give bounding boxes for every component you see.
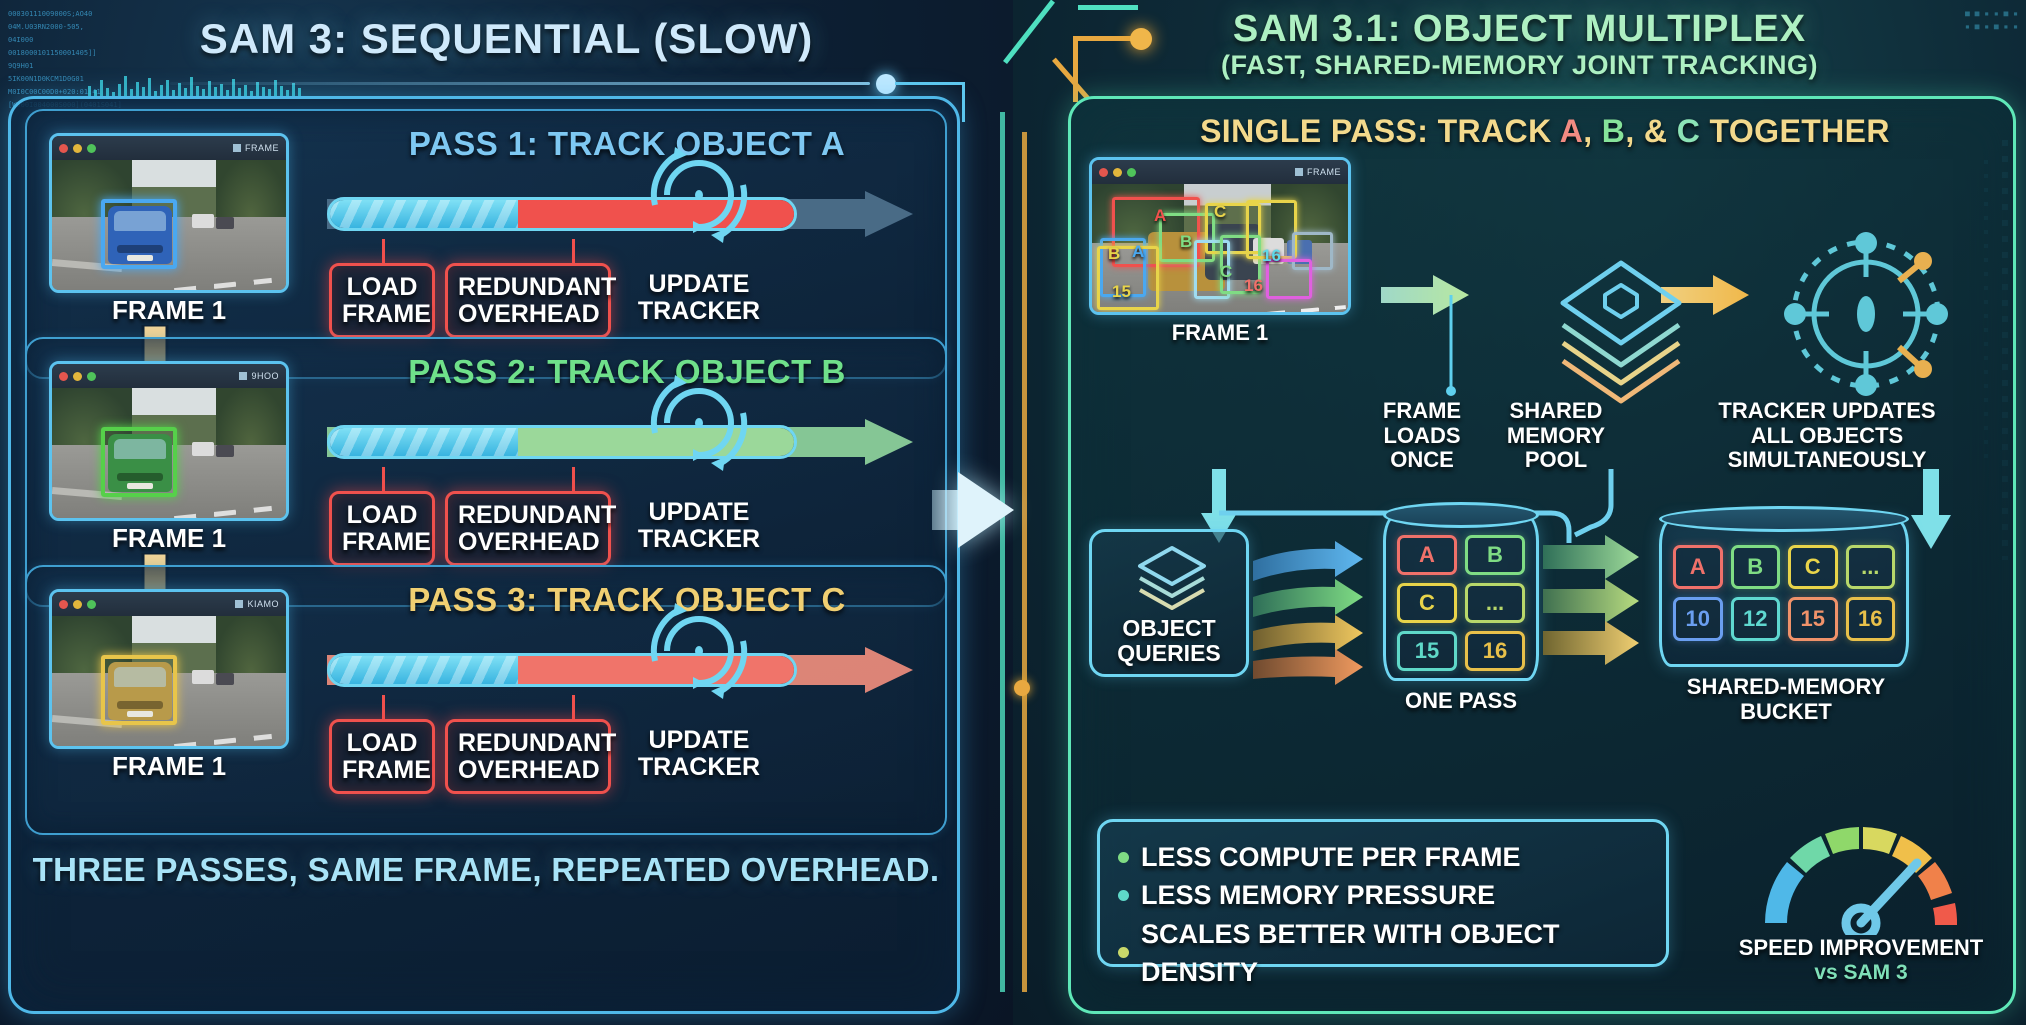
single-pass-title-sep1: , <box>1583 113 1602 149</box>
minimize-dot-icon[interactable] <box>73 600 82 609</box>
thumbnail-titlebar: 9HOO <box>52 364 286 388</box>
timeline-bar <box>327 419 915 465</box>
one-pass-cylinder[interactable]: ABC...1516 <box>1383 515 1539 681</box>
overhead-tick <box>572 695 575 721</box>
object-queries-label: OBJECT QUERIES <box>1092 616 1246 667</box>
one-pass-chip-grid: ABC...1516 <box>1395 533 1527 673</box>
update-tracker-label: UPDATE TRACKER <box>619 499 779 552</box>
thumbnail-window-text: 9HOO <box>251 371 279 381</box>
memory-chip: C <box>1788 545 1838 589</box>
overhead-line1: REDUNDANT <box>458 502 598 529</box>
road-scene <box>52 616 286 749</box>
memory-chip: 15 <box>1788 597 1838 641</box>
tracker-updates-line1: TRACKER UPDATES <box>1649 399 2005 424</box>
sequential-summary: THREE PASSES, SAME FRAME, REPEATED OVERH… <box>25 851 947 889</box>
bucket-label-line1: SHARED-MEMORY <box>1641 675 1931 700</box>
gauge-caption: SPEED IMPROVEMENT <box>1721 935 2001 961</box>
single-pass-title-a: A <box>1560 113 1584 149</box>
multiplex-panel: SINGLE PASS: TRACK A, B, & C TOGETHER FR… <box>1068 96 2016 1014</box>
benefit-item: LESS MEMORY PRESSURE <box>1118 876 1648 914</box>
pass-title: PASS 1: TRACK OBJECT A <box>327 125 927 163</box>
infographic-root: 00030111009000S;AO40 04M.U03RN2000-505, … <box>0 0 2026 1025</box>
header-node-line-vertical <box>962 82 965 122</box>
frame-loads-line2: LOADS <box>1367 424 1477 449</box>
single-pass-title-sep2: , & <box>1625 113 1676 149</box>
update-tracker-line1: UPDATE <box>619 271 779 298</box>
bounding-box <box>101 427 177 497</box>
single-pass-title-c: C <box>1677 113 1701 149</box>
progress-load-segment <box>330 200 518 228</box>
shared-pool-line2: MEMORY <box>1491 424 1621 449</box>
maximize-dot-icon[interactable] <box>87 372 96 381</box>
queries-stack-icon <box>1130 544 1214 616</box>
load-tick <box>382 467 385 493</box>
object-queries-line2: QUERIES <box>1092 641 1246 666</box>
memory-chip: 16 <box>1465 631 1525 671</box>
load-frame-line2: FRAME <box>342 301 422 328</box>
maximize-dot-icon[interactable] <box>87 600 96 609</box>
update-tracker-line2: TRACKER <box>619 298 779 325</box>
amber-circuit-long <box>1022 132 1027 992</box>
one-pass-label: ONE PASS <box>1371 689 1551 714</box>
window-grid-icon <box>233 144 241 152</box>
right-header-subtitle: (FAST, SHARED-MEMORY JOINT TRACKING) <box>1013 50 2026 81</box>
left-header-title: SAM 3: SEQUENTIAL (SLOW) <box>0 18 1013 60</box>
progress-load-segment <box>330 656 518 684</box>
object-tag: B <box>1108 244 1120 264</box>
object-tag: C <box>1220 262 1232 282</box>
tracker-updates-line2: ALL OBJECTS <box>1649 424 2005 449</box>
teal-circuit-horizontal <box>1078 5 1138 10</box>
shared-memory-stack-icon <box>1543 207 1703 407</box>
benefit-item: LESS COMPUTE PER FRAME <box>1118 838 1648 876</box>
overhead-tick <box>572 467 575 493</box>
bucket-chip-grid: ABC...10121516 <box>1673 545 1895 641</box>
close-dot-icon[interactable] <box>59 144 68 153</box>
distant-vehicle-1 <box>192 442 214 456</box>
gauge-subcaption: vs SAM 3 <box>1721 961 2001 985</box>
overhead-line2: OVERHEAD <box>458 301 598 328</box>
object-queries-box[interactable]: OBJECT QUERIES <box>1089 529 1249 677</box>
header-node-line <box>895 82 965 85</box>
update-tracker-label: UPDATE TRACKER <box>619 727 779 780</box>
thumbnail-window-label: FRAME <box>1295 167 1341 177</box>
bounding-box <box>101 655 177 725</box>
thumbnail-window-text: KIAMO <box>247 599 279 609</box>
frame-loads-once-label: FRAME LOADS ONCE <box>1367 399 1477 473</box>
pass-frame-thumbnail[interactable]: KIAMO <box>49 589 289 749</box>
overhead-line1: REDUNDANT <box>458 274 598 301</box>
redundant-overhead-tag: REDUNDANT OVERHEAD <box>445 719 611 794</box>
load-tick <box>382 239 385 265</box>
memory-chip: 10 <box>1673 597 1723 641</box>
query-flow-arrows <box>1251 539 1391 689</box>
pass-frame-thumbnail[interactable]: FRAME <box>49 133 289 293</box>
memory-chip: ... <box>1846 545 1896 589</box>
object-tag: B <box>1180 232 1192 252</box>
minimize-dot-icon[interactable] <box>73 372 82 381</box>
memory-chip: C <box>1397 583 1457 623</box>
refresh-tracker-icon <box>643 369 755 477</box>
benefit-text: SCALES BETTER WITH OBJECT DENSITY <box>1141 915 1648 992</box>
update-tracker-line2: TRACKER <box>619 754 779 781</box>
load-frame-line1: LOAD <box>342 274 422 301</box>
memory-chip: 16 <box>1846 597 1896 641</box>
pass-title: PASS 2: TRACK OBJECT B <box>327 353 927 391</box>
memory-chip: A <box>1397 535 1457 575</box>
thumbnail-titlebar: FRAME <box>52 136 286 160</box>
maximize-dot-icon[interactable] <box>87 144 96 153</box>
single-pass-title-b: B <box>1602 113 1626 149</box>
distant-vehicle-1 <box>192 214 214 228</box>
memory-chip: A <box>1673 545 1723 589</box>
bucket-top <box>1659 506 1909 532</box>
thumbnail-window-label: 9HOO <box>239 371 279 381</box>
one-pass-cylinder-top <box>1383 502 1539 528</box>
right-header-title: SAM 3.1: OBJECT MULTIPLEX <box>1013 10 2026 48</box>
pass-title: PASS 3: TRACK OBJECT C <box>327 581 927 619</box>
amber-circuit-horizontal <box>1073 36 1133 41</box>
shared-pool-line1: SHARED <box>1491 399 1621 424</box>
window-grid-icon <box>239 372 247 380</box>
thumbnail-window-label: KIAMO <box>235 599 279 609</box>
single-pass-title-pre: SINGLE PASS: TRACK <box>1200 113 1560 149</box>
load-frame-tag: LOAD FRAME <box>329 263 435 338</box>
close-dot-icon[interactable] <box>1099 168 1108 177</box>
thumbnail-window-label: FRAME <box>233 143 279 153</box>
bullet-dot-icon <box>1118 890 1129 901</box>
multi-object-scene: ACBBAC151616 <box>1092 184 1348 315</box>
amber-circuit-dot-lower <box>1014 680 1030 696</box>
thumbnail-window-text: FRAME <box>1307 167 1341 177</box>
distant-vehicle-2 <box>216 217 234 229</box>
object-tag: C <box>1214 202 1226 222</box>
bucket-label-line2: BUCKET <box>1641 700 1931 725</box>
object-tag: 15 <box>1112 282 1131 302</box>
speed-gauge: SPEED IMPROVEMENT vs SAM 3 <box>1721 811 2001 985</box>
redundant-overhead-tag: REDUNDANT OVERHEAD <box>445 263 611 338</box>
thumbnail-window-text: FRAME <box>245 143 279 153</box>
amber-circuit-vertical <box>1073 36 1078 102</box>
window-grid-icon <box>1295 168 1303 176</box>
single-pass-title: SINGLE PASS: TRACK A, B, & C TOGETHER <box>1071 113 2019 150</box>
overhead-line1: REDUNDANT <box>458 730 598 757</box>
header-rule <box>170 82 870 85</box>
memory-chip: 12 <box>1731 597 1781 641</box>
bucket-label: SHARED-MEMORY BUCKET <box>1641 675 1931 724</box>
load-frame-line1: LOAD <box>342 730 422 757</box>
update-tracker-line2: TRACKER <box>619 526 779 553</box>
right-header: SAM 3.1: OBJECT MULTIPLEX (FAST, SHARED-… <box>1013 0 2026 96</box>
thumbnail-titlebar: FRAME <box>1092 160 1348 184</box>
load-frame-line2: FRAME <box>342 757 422 784</box>
frame-caption: FRAME 1 <box>49 753 289 781</box>
distant-vehicle-2 <box>216 445 234 457</box>
object-tag: A <box>1132 242 1144 262</box>
thumbnail-titlebar: KIAMO <box>52 592 286 616</box>
timeline-bar <box>327 647 915 693</box>
close-dot-icon[interactable] <box>59 600 68 609</box>
overhead-line2: OVERHEAD <box>458 529 598 556</box>
transition-arrow-icon <box>958 472 1014 548</box>
benefits-box: LESS COMPUTE PER FRAMELESS MEMORY PRESSU… <box>1097 819 1669 967</box>
benefit-text: LESS MEMORY PRESSURE <box>1141 876 1495 914</box>
overhead-line2: OVERHEAD <box>458 757 598 784</box>
distant-vehicle-2 <box>216 673 234 685</box>
memory-chip: B <box>1465 535 1525 575</box>
frame-loads-line1: FRAME <box>1367 399 1477 424</box>
refresh-tracker-icon <box>643 141 755 249</box>
sequential-panel: FRAME <box>8 96 960 1014</box>
maximize-dot-icon[interactable] <box>1127 168 1136 177</box>
refresh-tracker-icon <box>643 597 755 705</box>
progress-load-segment <box>330 428 518 456</box>
update-tracker-line1: UPDATE <box>619 727 779 754</box>
benefit-text: LESS COMPUTE PER FRAME <box>1141 838 1521 876</box>
window-grid-icon <box>235 600 243 608</box>
frame-caption: FRAME 1 <box>49 297 289 325</box>
single-pass-title-post: TOGETHER <box>1700 113 1890 149</box>
load-frame-line1: LOAD <box>342 502 422 529</box>
bullet-dot-icon <box>1118 852 1129 863</box>
minimize-dot-icon[interactable] <box>1113 168 1122 177</box>
road-scene <box>52 160 286 293</box>
object-tag: 16 <box>1244 276 1263 296</box>
update-tracker-label: UPDATE TRACKER <box>619 271 779 324</box>
redundant-overhead-tag: REDUNDANT OVERHEAD <box>445 491 611 566</box>
multi-object-frame-thumbnail[interactable]: FRAME ACBBAC151616 <box>1089 157 1351 315</box>
header-node-dot <box>876 74 896 94</box>
memory-chip: ... <box>1465 583 1525 623</box>
load-frame-tag: LOAD FRAME <box>329 719 435 794</box>
overhead-tick <box>572 239 575 265</box>
load-frame-tag: LOAD FRAME <box>329 491 435 566</box>
shared-memory-pool-label: SHARED MEMORY POOL <box>1491 399 1621 473</box>
minimize-dot-icon[interactable] <box>73 144 82 153</box>
memory-chip: 15 <box>1397 631 1457 671</box>
load-frame-line2: FRAME <box>342 529 422 556</box>
tracker-radial-icon <box>1771 219 1961 409</box>
bounding-box <box>101 199 177 269</box>
right-frame-label: FRAME 1 <box>1089 321 1351 346</box>
pass-row: KIAMO <box>25 565 947 835</box>
object-tag: 16 <box>1262 246 1281 266</box>
benefit-item: SCALES BETTER WITH OBJECT DENSITY <box>1118 915 1648 992</box>
pass-frame-thumbnail[interactable]: 9HOO <box>49 361 289 521</box>
object-tag: A <box>1154 206 1166 226</box>
teal-circuit-vertical <box>1000 112 1005 992</box>
memory-chip: B <box>1731 545 1781 589</box>
update-tracker-line1: UPDATE <box>619 499 779 526</box>
distant-vehicle-1 <box>192 670 214 684</box>
bucket-flow-arrows <box>1543 535 1663 675</box>
amber-circuit-dot <box>1130 28 1152 50</box>
close-dot-icon[interactable] <box>59 372 68 381</box>
frame-caption: FRAME 1 <box>49 525 289 553</box>
timeline-bar <box>327 191 915 237</box>
object-queries-line1: OBJECT <box>1092 616 1246 641</box>
bullet-dot-icon <box>1118 947 1129 958</box>
shared-memory-bucket[interactable]: ABC...10121516 <box>1659 519 1909 667</box>
tracker-updates-label: TRACKER UPDATES ALL OBJECTS SIMULTANEOUS… <box>1649 399 2005 473</box>
benefits-list: LESS COMPUTE PER FRAMELESS MEMORY PRESSU… <box>1118 838 1648 991</box>
gauge-icon <box>1746 811 1976 935</box>
load-tick <box>382 695 385 721</box>
road-scene <box>52 388 286 521</box>
